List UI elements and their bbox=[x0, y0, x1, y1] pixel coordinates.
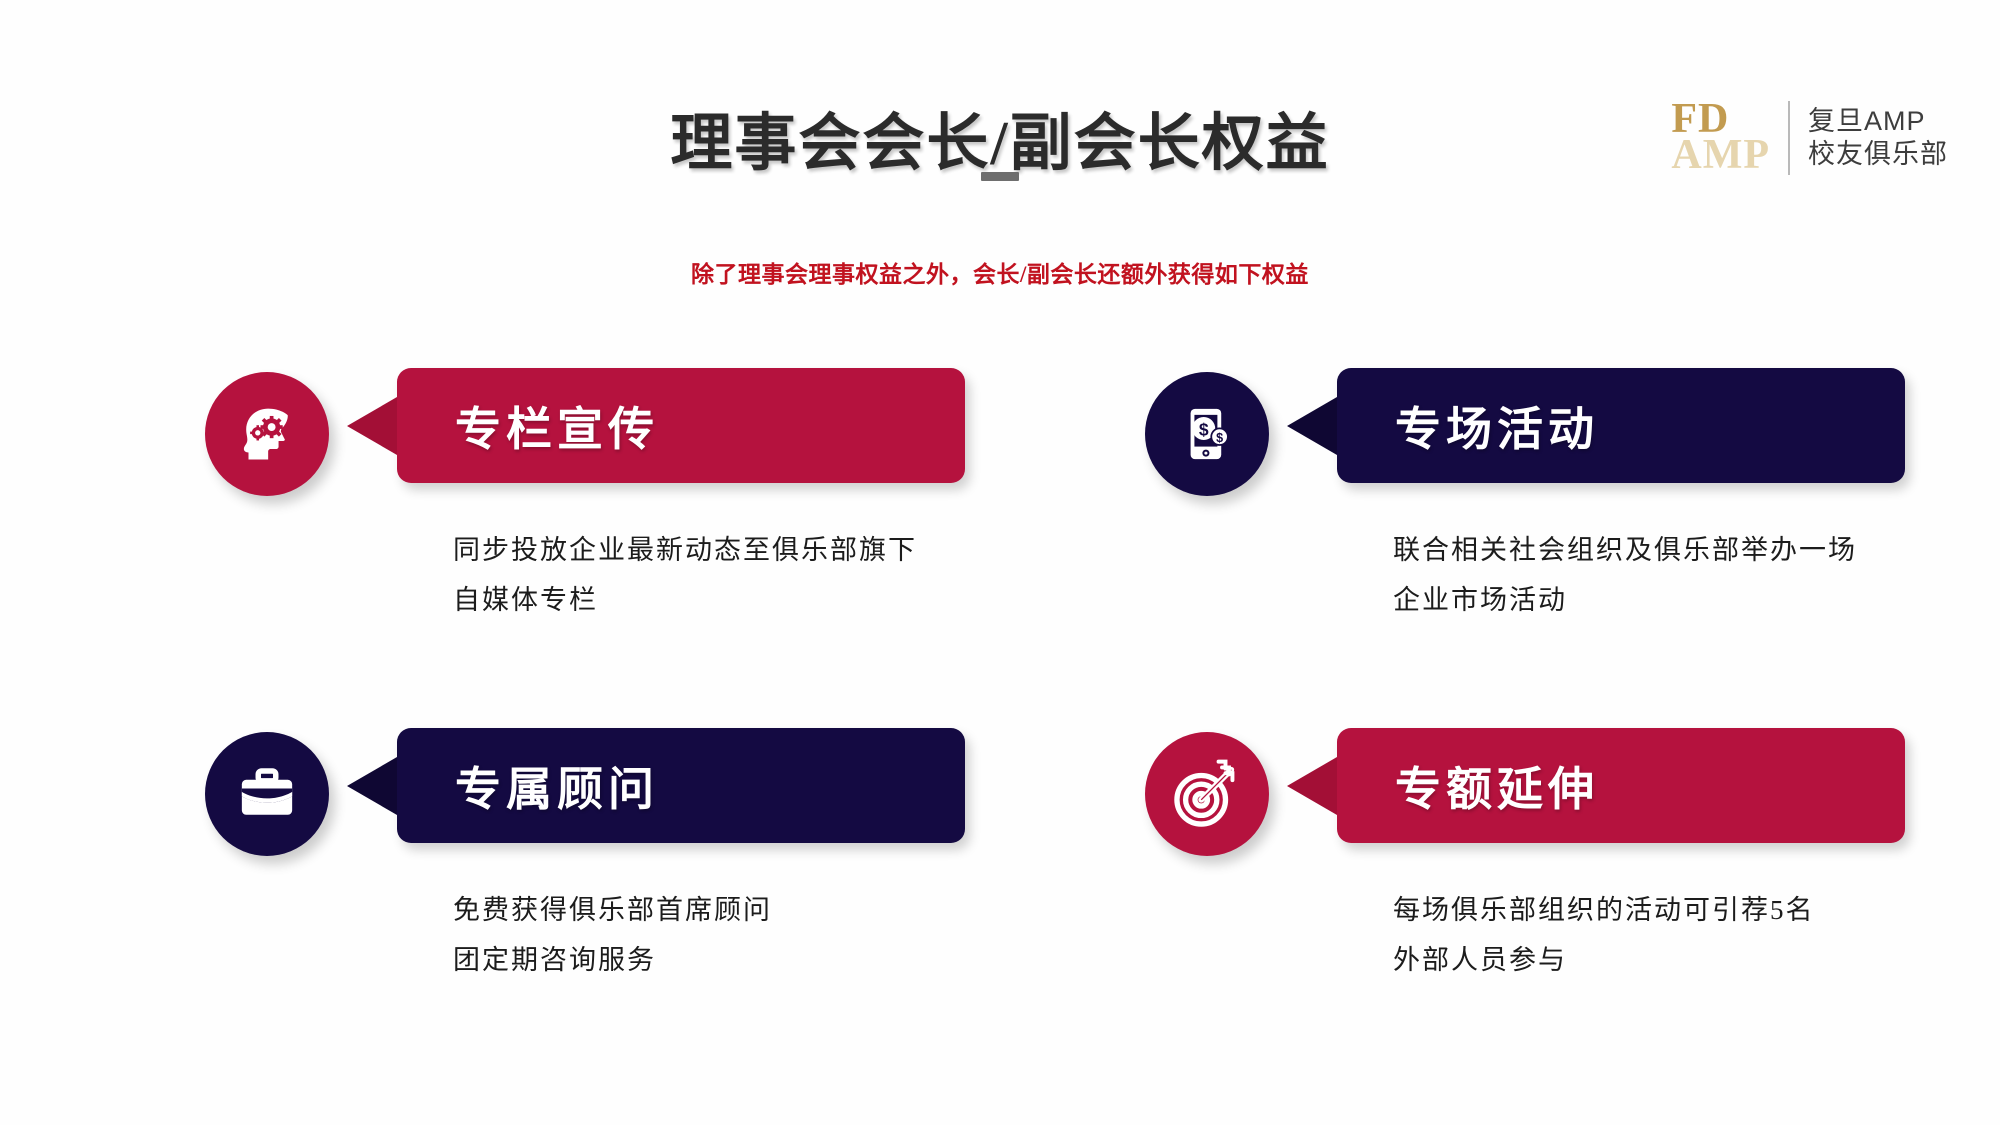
brand-monogram: FD AMP bbox=[1671, 100, 1788, 176]
slide-canvas: 理事会会长/副会长权益 除了理事会理事权益之外，会长/副会长还额外获得如下权益 … bbox=[0, 0, 2000, 1125]
card-banner[interactable]: 专额延伸 bbox=[1337, 728, 1905, 843]
svg-text:$: $ bbox=[1216, 431, 1223, 445]
card-description-line2: 外部人员参与 bbox=[1393, 936, 1905, 986]
brand-name-line2: 校友俱乐部 bbox=[1808, 138, 1948, 171]
card-banner[interactable]: 专场活动 bbox=[1337, 368, 1905, 483]
brand-name-line1: 复旦AMP bbox=[1808, 105, 1948, 138]
mobile-money-icon: $ $ bbox=[1145, 372, 1269, 496]
card-description-line1: 联合相关社会组织及俱乐部举办一场 bbox=[1393, 526, 1905, 576]
benefit-card-special-event[interactable]: $ $ 专场活动 联合相关社会组织及俱乐部举办一场 企业市场活动 bbox=[1145, 368, 1905, 626]
benefit-card-quota-extension[interactable]: 专额延伸 每场俱乐部组织的活动可引荐5名 外部人员参与 bbox=[1145, 728, 1905, 986]
card-header: 专额延伸 bbox=[1145, 728, 1905, 848]
card-title: 专栏宣传 bbox=[397, 393, 659, 459]
card-description: 同步投放企业最新动态至俱乐部旗下 自媒体专栏 bbox=[453, 526, 965, 626]
banner-arrow-icon bbox=[347, 397, 397, 455]
card-banner[interactable]: 专属顾问 bbox=[397, 728, 965, 843]
banner-arrow-icon bbox=[1287, 397, 1337, 455]
card-description: 联合相关社会组织及俱乐部举办一场 企业市场活动 bbox=[1393, 526, 1905, 626]
page-subtitle: 除了理事会理事权益之外，会长/副会长还额外获得如下权益 bbox=[0, 255, 2000, 289]
title-underline-bar bbox=[981, 172, 1019, 181]
banner-arrow-icon bbox=[347, 757, 397, 815]
card-banner[interactable]: 专栏宣传 bbox=[397, 368, 965, 483]
benefit-card-column-promotion[interactable]: 专栏宣传 同步投放企业最新动态至俱乐部旗下 自媒体专栏 bbox=[205, 368, 965, 626]
card-header: $ $ 专场活动 bbox=[1145, 368, 1905, 488]
brand-name: 复旦AMP 校友俱乐部 bbox=[1790, 105, 1948, 171]
card-title: 专额延伸 bbox=[1337, 753, 1599, 819]
card-header: 专属顾问 bbox=[205, 728, 965, 848]
card-description: 每场俱乐部组织的活动可引荐5名 外部人员参与 bbox=[1393, 886, 1905, 986]
briefcase-icon bbox=[205, 732, 329, 856]
card-description-line1: 免费获得俱乐部首席顾问 bbox=[453, 886, 965, 936]
card-description-line2: 自媒体专栏 bbox=[453, 576, 965, 626]
card-header: 专栏宣传 bbox=[205, 368, 965, 488]
benefit-card-dedicated-advisor[interactable]: 专属顾问 免费获得俱乐部首席顾问 团定期咨询服务 bbox=[205, 728, 965, 986]
card-description-line2: 团定期咨询服务 bbox=[453, 936, 965, 986]
head-gears-icon bbox=[205, 372, 329, 496]
card-description-line2: 企业市场活动 bbox=[1393, 576, 1905, 626]
card-title: 专属顾问 bbox=[397, 753, 659, 819]
brand-logo: FD AMP 复旦AMP 校友俱乐部 bbox=[1671, 92, 1948, 184]
target-arrow-icon bbox=[1145, 732, 1269, 856]
banner-arrow-icon bbox=[1287, 757, 1337, 815]
brand-monogram-amp: AMP bbox=[1671, 136, 1770, 176]
card-description-line1: 同步投放企业最新动态至俱乐部旗下 bbox=[453, 526, 965, 576]
svg-text:$: $ bbox=[1199, 420, 1209, 440]
card-title: 专场活动 bbox=[1337, 393, 1599, 459]
card-description-line1: 每场俱乐部组织的活动可引荐5名 bbox=[1393, 886, 1905, 936]
card-description: 免费获得俱乐部首席顾问 团定期咨询服务 bbox=[453, 886, 965, 986]
